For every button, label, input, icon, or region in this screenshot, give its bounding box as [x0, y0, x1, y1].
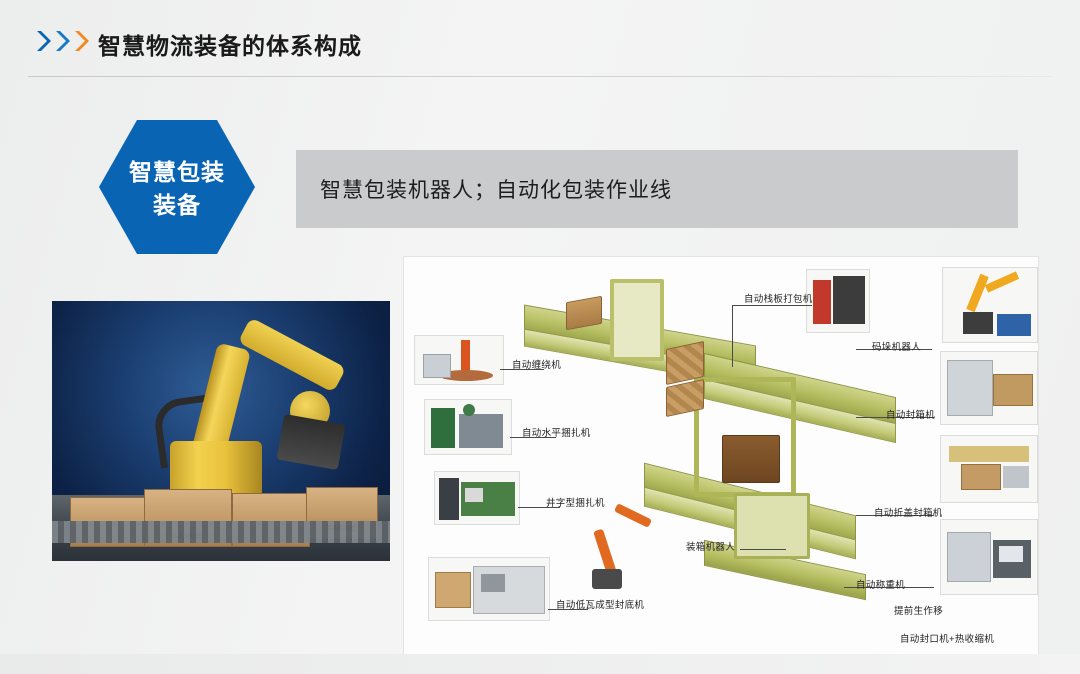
shrink-wrap-machine-photo [940, 519, 1038, 595]
brown-carton-unit [722, 435, 780, 483]
chevron-3-icon [74, 30, 91, 52]
section-badge-label: 智慧包装 装备 [97, 156, 257, 222]
diagram-label: 井字型捆扎机 [546, 495, 605, 509]
slide-header: 智慧物流装备的体系构成 [0, 0, 1080, 78]
leader-line [732, 305, 812, 306]
diagram-label: 自动栈板打包机 [744, 291, 813, 305]
cross-strapping-machine-photo [434, 471, 520, 525]
triple-chevron-icon [36, 30, 91, 52]
packing-robot-base [592, 569, 622, 589]
page-title: 智慧物流装备的体系构成 [98, 27, 362, 61]
section-badge: 智慧包装 装备 [97, 118, 257, 256]
case-sealer-photo [940, 351, 1038, 425]
carton-forming-machine-photo [428, 557, 550, 621]
palletizing-robot-photo-cell [942, 267, 1038, 343]
description-bar: 智慧包装机器人；自动化包装作业线 [296, 150, 1018, 228]
header-divider [28, 76, 1052, 77]
description-text: 智慧包装机器人；自动化包装作业线 [320, 174, 672, 204]
strapping-unit-photo [806, 269, 870, 333]
diagram-label: 码垛机器人 [872, 339, 921, 353]
diagram-label: 自动低瓦成型封底机 [556, 597, 644, 611]
diagram-label: 自动水平捆扎机 [522, 425, 591, 439]
chevron-2-icon [55, 30, 72, 52]
photo-conveyor [52, 521, 390, 543]
diagram-label: 装箱机器人 [686, 539, 735, 553]
diagram-label: 自动封箱机 [886, 407, 935, 421]
slide: 智慧物流装备的体系构成 智慧包装 装备 智慧包装机器人；自动化包装作业线 FAN… [0, 0, 1080, 674]
leader-line [740, 549, 786, 550]
footer-band [0, 654, 1080, 674]
leader-line [732, 305, 733, 367]
palletizing-robot-photo: FANUC FANUC [52, 301, 390, 561]
horizontal-strapping-machine-photo [424, 399, 512, 455]
chevron-1-icon [36, 30, 53, 52]
diagram-label: 自动折盖封箱机 [874, 505, 943, 519]
flap-folding-sealer-photo [940, 435, 1038, 503]
diagram-label: 提前生作移 [894, 603, 943, 617]
diagram-label: 自动缠绕机 [512, 357, 561, 371]
diagram-label: 自动称重机 [856, 577, 905, 591]
vertical-stacker-frame [610, 279, 664, 361]
diagram-label: 自动封口机+热收缩机 [900, 631, 994, 645]
packaging-line-diagram: 自动缠绕机 自动水平捆扎机 井字型捆扎机 自动低瓦成型封底机 自动栈板打包机 装… [403, 256, 1039, 656]
wrapping-machine-photo [414, 335, 504, 385]
